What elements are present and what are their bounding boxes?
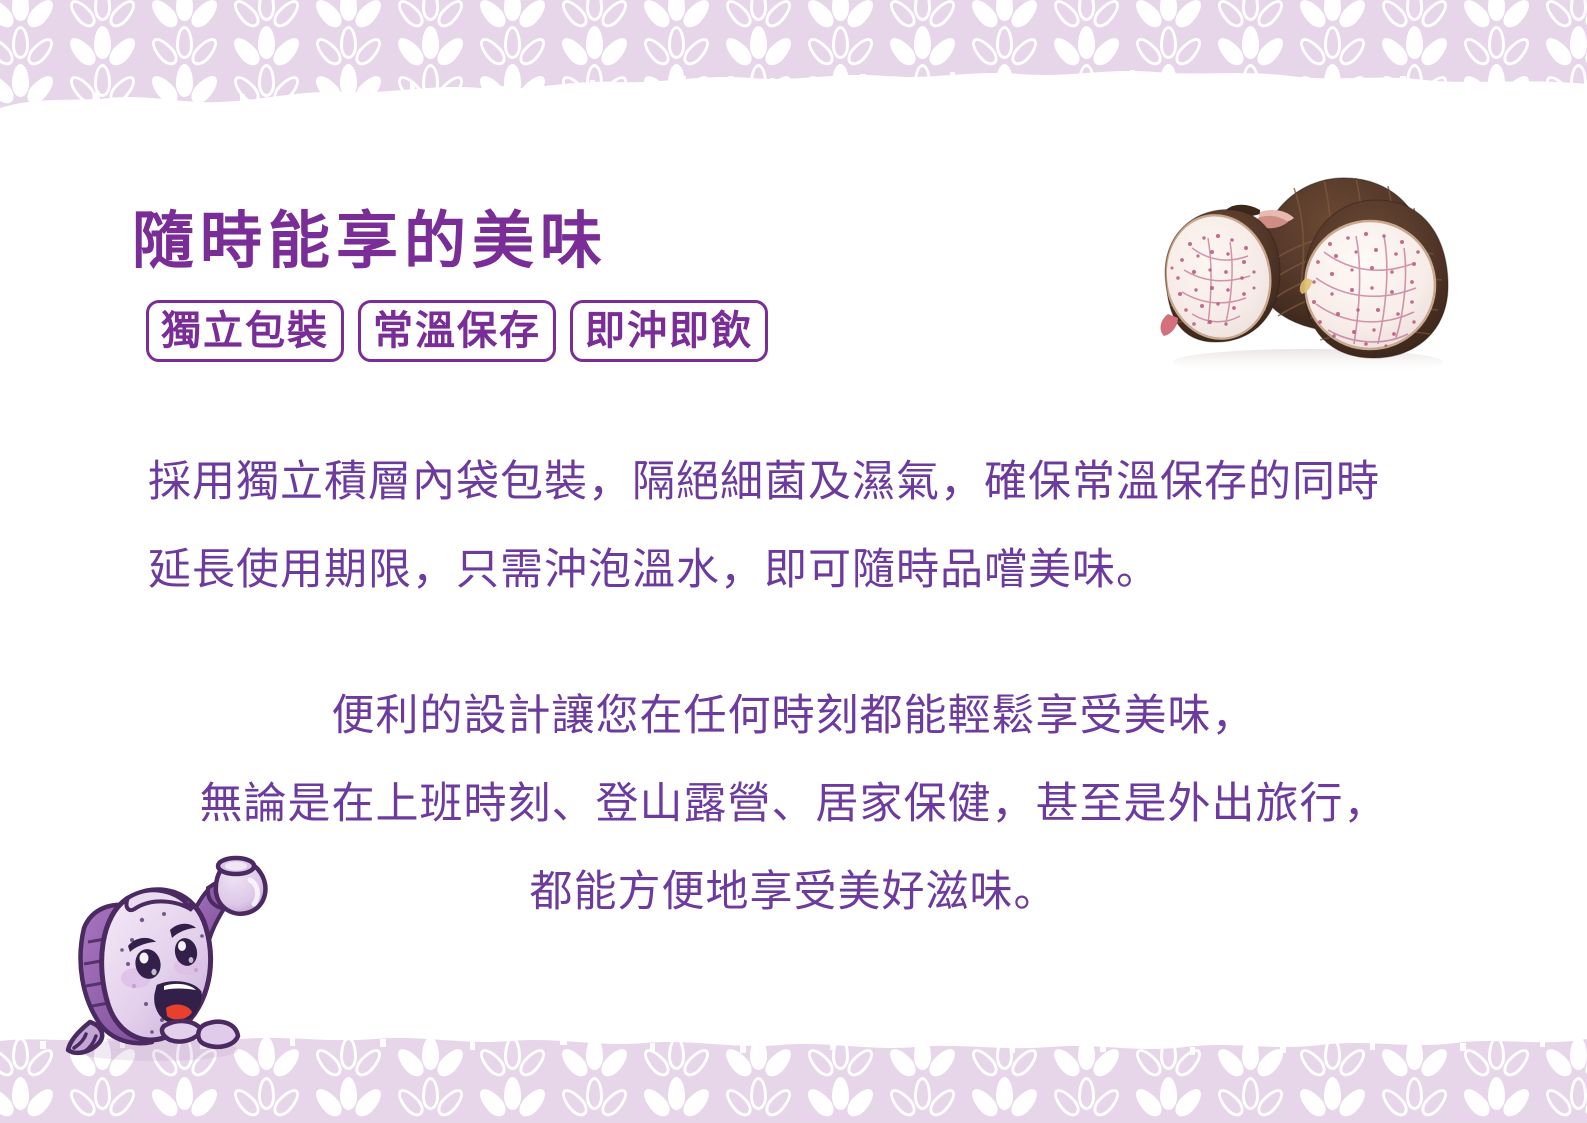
paragraph-line: 延長使用期限，只需沖泡溫水，即可隨時品嚐美味。 bbox=[148, 545, 1160, 595]
page-content: 隨時能享的美味 獨立包裝 常溫保存 即沖即飲 採用獨立積層內袋包裝，隔絕細菌及濕… bbox=[0, 0, 1587, 1123]
page-title: 隨時能享的美味 bbox=[132, 190, 608, 280]
feature-badge-group: 獨立包裝 常溫保存 即沖即飲 bbox=[146, 300, 768, 362]
taro-root-photo bbox=[1108, 152, 1508, 387]
badge-independent-packaging: 獨立包裝 bbox=[146, 300, 344, 362]
paragraph-line: 便利的設計讓您在任何時刻都能輕鬆享受美味， bbox=[0, 672, 1587, 760]
taro-mascot-holding-cup bbox=[36, 836, 274, 1068]
paragraph-line: 無論是在上班時刻、登山露營、居家保健，甚至是外出旅行， bbox=[0, 760, 1587, 848]
paragraph-packaging: 採用獨立積層內袋包裝，隔絕細菌及濕氣，確保常溫保存的同時 延長使用期限，只需沖泡… bbox=[148, 438, 1380, 614]
paragraph-line: 採用獨立積層內袋包裝，隔絕細菌及濕氣，確保常溫保存的同時 bbox=[148, 457, 1380, 507]
badge-room-temperature-storage: 常溫保存 bbox=[358, 300, 556, 362]
badge-instant-brew-drink: 即沖即飲 bbox=[570, 300, 768, 362]
